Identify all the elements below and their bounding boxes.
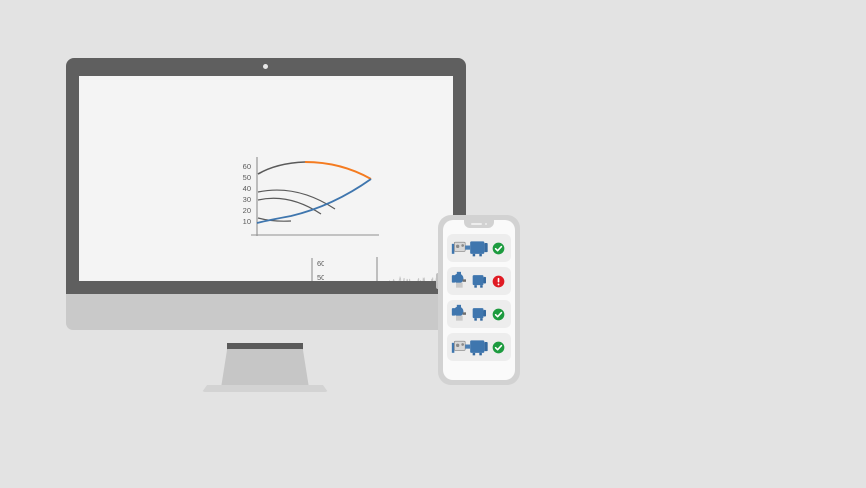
y-tick-label: 30: [243, 195, 251, 204]
y-tick-label: 50: [317, 273, 324, 281]
scene-canvas: 60 50 40 30 20 10: [0, 0, 866, 488]
envelope-chart[interactable]: 60 50 40 30 20 10: [229, 154, 404, 249]
check-circle-icon: [492, 341, 505, 354]
phone-screen[interactable]: [443, 220, 515, 380]
upper-envelope-orange-curve: [305, 162, 371, 179]
speaker-slot-icon: [471, 223, 482, 225]
monitor-chin: [66, 294, 466, 330]
y-tick-label: 10: [243, 217, 251, 226]
desktop-monitor: 60 50 40 30 20 10: [66, 58, 466, 338]
y-tick-label: 60: [317, 259, 324, 268]
pump-motor-icon: [451, 304, 491, 324]
compressor-motor-icon: [451, 337, 491, 357]
y-tick-label: 40: [243, 184, 251, 193]
monitor-stand-base: [202, 385, 328, 392]
camera-dot-icon: [263, 64, 268, 69]
pump-motor-icon: [451, 271, 491, 291]
alert-circle-icon: [492, 275, 505, 288]
list-item[interactable]: [447, 234, 511, 262]
smartphone: [438, 215, 520, 385]
check-circle-icon: [492, 308, 505, 321]
bar-chart[interactable]: 60 50 40 30 20 10: [159, 254, 324, 281]
list-item[interactable]: [447, 267, 511, 295]
monitor-bezel: 60 50 40 30 20 10: [66, 58, 466, 300]
compressor-motor-icon: [451, 238, 491, 258]
mid-arc-lower-curve: [258, 198, 321, 214]
upper-envelope-gray-curve: [258, 162, 305, 174]
monitor-stand-neck: [221, 349, 309, 388]
y-tick-label: 20: [243, 206, 251, 215]
list-item[interactable]: [447, 300, 511, 328]
lower-envelope-blue-curve: [257, 179, 371, 223]
y-tick-label: 50: [243, 173, 251, 182]
phone-side-button[interactable]: [436, 273, 438, 289]
asset-status-list: [447, 234, 511, 366]
check-circle-icon: [492, 242, 505, 255]
list-item[interactable]: [447, 333, 511, 361]
front-camera-icon: [485, 223, 487, 225]
monitor-stand-neck-top: [227, 343, 303, 350]
y-tick-label: 60: [243, 162, 251, 171]
monitor-screen[interactable]: 60 50 40 30 20 10: [79, 76, 453, 281]
